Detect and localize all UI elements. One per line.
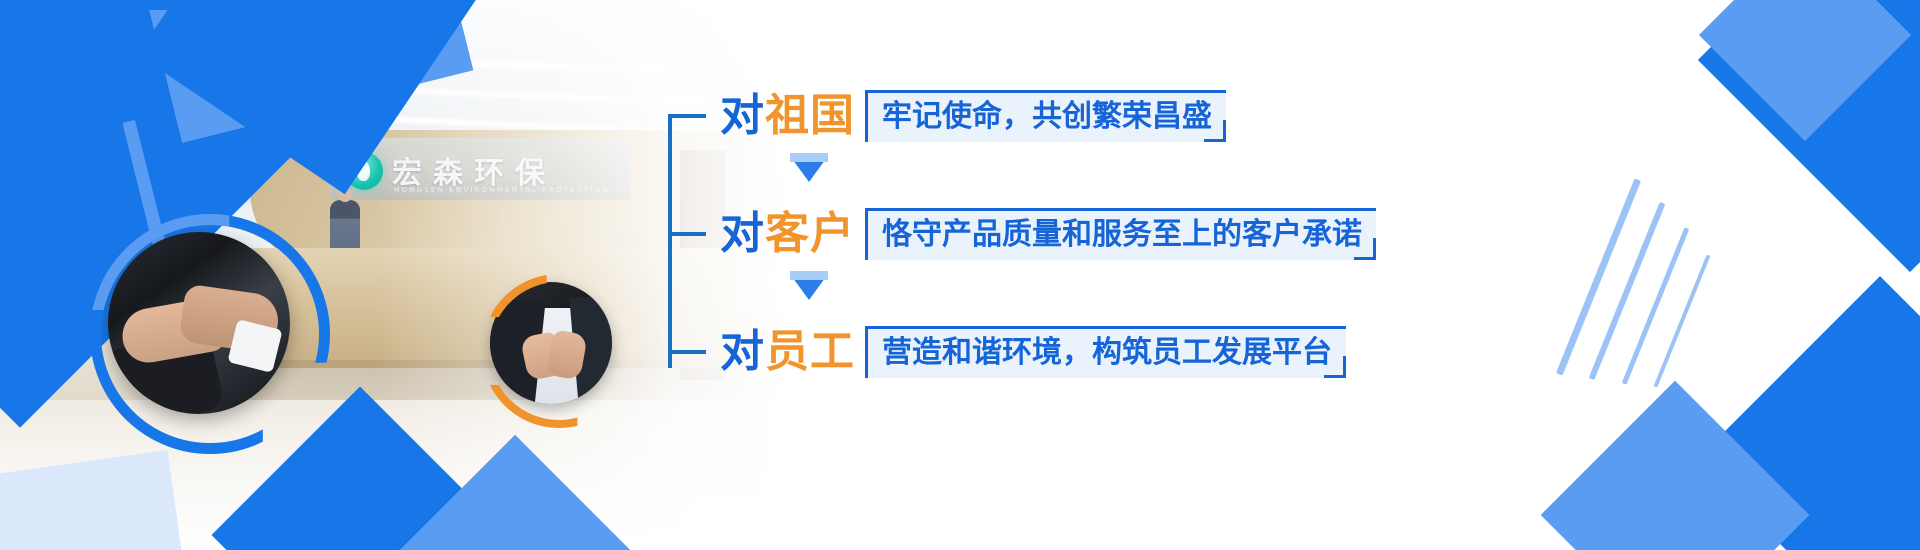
value-prefix: 对 (720, 90, 765, 141)
decor-right-line (1589, 202, 1666, 380)
values-list: 对祖国 牢记使命，共创繁荣昌盛 对客户 恪守产品质量和服务至上的客户承诺 对员工… (668, 82, 1368, 402)
arrow-down-icon (790, 156, 828, 182)
value-label: 对员工 (720, 330, 855, 374)
value-slogan: 恪守产品质量和服务至上的客户承诺 (865, 208, 1376, 260)
corporate-values-banner: 宏森环保 HONGSEN ENVIRONMENTAL PROTECTION (0, 0, 1920, 550)
value-slogan: 营造和谐环境，构筑员工发展平台 (865, 326, 1346, 378)
value-keyword: 员工 (765, 326, 855, 377)
value-label: 对祖国 (720, 94, 855, 138)
value-keyword: 客户 (765, 208, 855, 259)
decor-right-line (1654, 254, 1711, 387)
decor-right-line (1622, 227, 1690, 385)
decor-top-strip (0, 0, 220, 10)
value-prefix: 对 (720, 208, 765, 259)
value-row-customer: 对客户 恪守产品质量和服务至上的客户承诺 (668, 206, 1376, 262)
row-tick (668, 350, 706, 354)
value-slogan: 牢记使命，共创繁荣昌盛 (865, 90, 1226, 142)
arrow-down-icon (790, 274, 828, 300)
value-row-country: 对祖国 牢记使命，共创繁荣昌盛 (668, 88, 1226, 144)
value-label: 对客户 (720, 212, 855, 256)
value-keyword: 祖国 (765, 90, 855, 141)
row-tick (668, 114, 706, 118)
value-row-employee: 对员工 营造和谐环境，构筑员工发展平台 (668, 324, 1346, 380)
value-prefix: 对 (720, 326, 765, 377)
row-tick (668, 232, 706, 236)
